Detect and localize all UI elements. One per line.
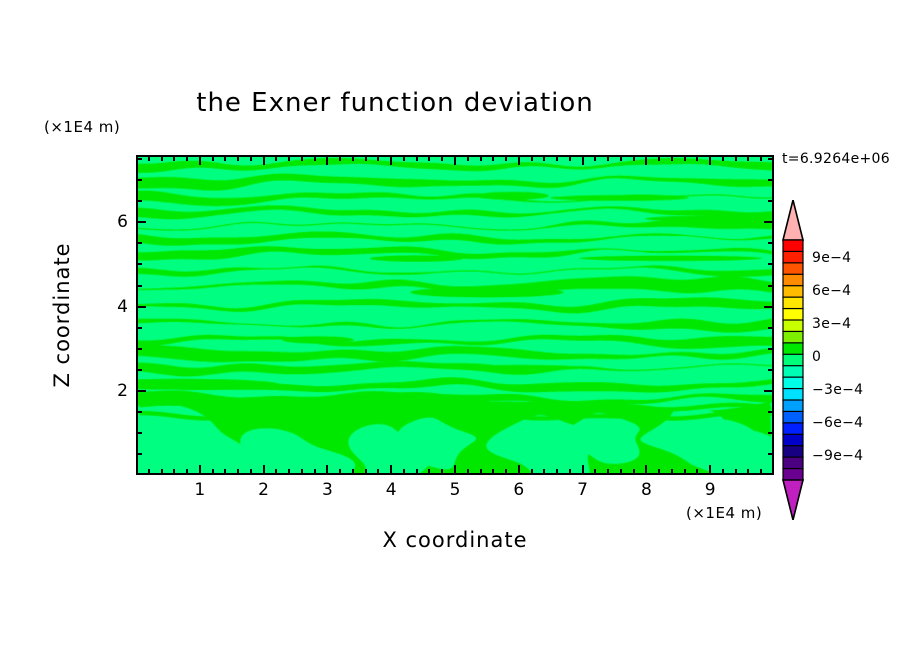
x-tick-minor-top	[428, 155, 430, 161]
colorbar-band	[783, 286, 803, 298]
x-tick-minor-top	[760, 155, 762, 161]
x-tick-minor	[403, 469, 405, 475]
contour-field-canvas	[138, 157, 772, 473]
x-tick-minor-top	[416, 155, 418, 161]
x-tick-major	[518, 465, 520, 475]
x-tick-minor	[186, 469, 188, 475]
x-tick-minor-top	[696, 155, 698, 161]
colorbar-band	[783, 309, 803, 321]
y-axis-title: Z coordinate	[50, 242, 74, 387]
x-tick-minor-top	[288, 155, 290, 161]
x-axis-title: X coordinate	[136, 528, 774, 552]
x-tick-major	[263, 465, 265, 475]
x-tick-minor	[633, 469, 635, 475]
x-tick-major	[709, 465, 711, 475]
x-tick-minor-top	[556, 155, 558, 161]
y-tick-minor	[136, 179, 142, 181]
x-tick-minor	[148, 469, 150, 475]
y-tick-minor	[136, 263, 142, 265]
y-tick-minor	[136, 200, 142, 202]
x-tick-minor-top	[735, 155, 737, 161]
x-tick-minor	[556, 469, 558, 475]
x-tick-minor	[760, 469, 762, 475]
contour-plot-area	[136, 155, 774, 475]
y-tick-minor-right	[768, 432, 774, 434]
x-tick-minor	[288, 469, 290, 475]
timestamp-annotation: t=6.9264e+06	[782, 151, 890, 167]
x-tick-minor-top	[607, 155, 609, 161]
colorbar-band	[783, 320, 803, 332]
y-axis-unit-label: (×1E4 m)	[44, 118, 120, 136]
y-tick-minor-right	[768, 158, 774, 160]
x-tick-major-top	[390, 155, 392, 165]
y-tick-minor	[136, 242, 142, 244]
y-tick-minor-right	[768, 411, 774, 413]
y-tick-major-right	[764, 221, 774, 223]
y-tick-minor	[136, 432, 142, 434]
x-tick-minor	[173, 469, 175, 475]
y-tick-minor	[136, 327, 142, 329]
colorbar-band	[783, 251, 803, 263]
x-tick-minor	[607, 469, 609, 475]
y-tick-major-right	[764, 390, 774, 392]
y-tick-minor	[136, 453, 142, 455]
colorbar-tick-label: −9e−4	[812, 448, 863, 464]
y-tick-minor-right	[768, 179, 774, 181]
x-tick-minor	[275, 469, 277, 475]
colorbar-band	[783, 366, 803, 378]
colorbar-band	[783, 240, 803, 252]
x-tick-minor-top	[620, 155, 622, 161]
x-tick-minor-top	[173, 155, 175, 161]
x-tick-minor	[658, 469, 660, 475]
y-tick-label: 6	[117, 212, 128, 232]
x-tick-major	[326, 465, 328, 475]
x-tick-minor	[735, 469, 737, 475]
x-tick-minor-top	[250, 155, 252, 161]
x-tick-minor	[543, 469, 545, 475]
x-tick-major	[390, 465, 392, 475]
y-tick-major	[136, 221, 146, 223]
x-tick-minor-top	[403, 155, 405, 161]
colorbar-band	[783, 469, 803, 481]
x-tick-major	[199, 465, 201, 475]
x-tick-minor	[250, 469, 252, 475]
y-tick-minor	[136, 285, 142, 287]
y-tick-minor-right	[768, 348, 774, 350]
colorbar-tick-label: 6e−4	[812, 283, 851, 299]
colorbar-band	[783, 457, 803, 469]
x-tick-major-top	[518, 155, 520, 165]
page-title: the Exner function deviation	[0, 88, 790, 118]
x-tick-minor-top	[722, 155, 724, 161]
colorbar-band	[783, 354, 803, 366]
y-tick-label: 2	[117, 381, 128, 401]
colorbar-band	[783, 400, 803, 412]
x-tick-major-top	[582, 155, 584, 165]
x-tick-minor-top	[339, 155, 341, 161]
x-tick-label: 4	[386, 480, 397, 500]
x-tick-minor	[224, 469, 226, 475]
x-tick-label: 2	[258, 480, 269, 500]
x-tick-minor	[492, 469, 494, 475]
y-tick-major	[136, 390, 146, 392]
x-tick-minor	[212, 469, 214, 475]
x-tick-minor-top	[531, 155, 533, 161]
x-tick-minor	[747, 469, 749, 475]
x-tick-minor	[428, 469, 430, 475]
y-tick-major	[136, 306, 146, 308]
x-tick-minor	[377, 469, 379, 475]
x-tick-minor	[569, 469, 571, 475]
x-tick-minor-top	[161, 155, 163, 161]
y-tick-minor	[136, 158, 142, 160]
colorbar-band	[783, 423, 803, 435]
colorbar-under-arrow	[783, 480, 803, 520]
x-tick-major-top	[645, 155, 647, 165]
x-tick-minor	[339, 469, 341, 475]
x-tick-minor	[594, 469, 596, 475]
x-tick-major	[582, 465, 584, 475]
x-tick-minor	[671, 469, 673, 475]
x-tick-minor-top	[365, 155, 367, 161]
x-tick-minor	[352, 469, 354, 475]
x-tick-minor-top	[212, 155, 214, 161]
colorbar-tick-label: 9e−4	[812, 250, 851, 266]
x-tick-minor	[620, 469, 622, 475]
colorbar-band	[783, 446, 803, 458]
x-tick-minor	[722, 469, 724, 475]
x-tick-minor-top	[148, 155, 150, 161]
x-tick-minor-top	[492, 155, 494, 161]
colorbar-tick-label: −3e−4	[812, 382, 863, 398]
x-tick-minor-top	[594, 155, 596, 161]
x-tick-minor-top	[186, 155, 188, 161]
y-tick-minor-right	[768, 327, 774, 329]
y-tick-minor-right	[768, 369, 774, 371]
x-tick-minor	[237, 469, 239, 475]
colorbar[interactable]	[781, 200, 805, 520]
x-tick-minor-top	[684, 155, 686, 161]
colorbar-band	[783, 263, 803, 275]
x-tick-minor-top	[275, 155, 277, 161]
x-tick-minor-top	[441, 155, 443, 161]
y-tick-minor	[136, 348, 142, 350]
x-tick-label: 3	[322, 480, 333, 500]
x-tick-minor-top	[352, 155, 354, 161]
x-tick-minor-top	[543, 155, 545, 161]
x-tick-minor	[314, 469, 316, 475]
colorbar-tick-label: 0	[812, 349, 821, 365]
x-tick-minor-top	[658, 155, 660, 161]
x-tick-minor	[696, 469, 698, 475]
x-tick-minor-top	[480, 155, 482, 161]
x-tick-major	[645, 465, 647, 475]
x-tick-minor-top	[301, 155, 303, 161]
x-tick-major	[454, 465, 456, 475]
x-tick-label: 7	[577, 480, 588, 500]
x-tick-minor	[161, 469, 163, 475]
x-tick-minor-top	[633, 155, 635, 161]
colorbar-band	[783, 411, 803, 423]
x-tick-minor-top	[747, 155, 749, 161]
x-tick-major-top	[709, 155, 711, 165]
colorbar-svg	[781, 200, 805, 520]
colorbar-tick-label: 3e−4	[812, 316, 851, 332]
colorbar-band	[783, 297, 803, 309]
x-tick-minor-top	[505, 155, 507, 161]
y-tick-label: 4	[117, 297, 128, 317]
x-tick-minor	[684, 469, 686, 475]
y-tick-minor-right	[768, 242, 774, 244]
colorbar-tick-label: −6e−4	[812, 415, 863, 431]
x-tick-label: 9	[705, 480, 716, 500]
x-tick-minor-top	[671, 155, 673, 161]
colorbar-band	[783, 331, 803, 343]
x-tick-major-top	[326, 155, 328, 165]
x-tick-minor-top	[569, 155, 571, 161]
colorbar-band	[783, 274, 803, 286]
x-tick-minor	[480, 469, 482, 475]
x-tick-major-top	[263, 155, 265, 165]
x-tick-minor-top	[377, 155, 379, 161]
y-tick-minor	[136, 411, 142, 413]
x-tick-label: 8	[641, 480, 652, 500]
x-tick-minor	[365, 469, 367, 475]
x-tick-major-top	[199, 155, 201, 165]
x-axis-unit-label: (×1E4 m)	[686, 504, 762, 522]
x-tick-label: 5	[450, 480, 461, 500]
y-tick-minor-right	[768, 263, 774, 265]
x-tick-minor	[505, 469, 507, 475]
x-tick-label: 1	[194, 480, 205, 500]
x-tick-minor	[301, 469, 303, 475]
colorbar-band	[783, 377, 803, 389]
x-tick-minor	[531, 469, 533, 475]
colorbar-band	[783, 343, 803, 355]
colorbar-over-arrow	[783, 200, 803, 240]
x-tick-minor-top	[237, 155, 239, 161]
x-tick-minor	[416, 469, 418, 475]
colorbar-band	[783, 434, 803, 446]
x-tick-major-top	[454, 155, 456, 165]
y-tick-minor-right	[768, 200, 774, 202]
x-tick-minor-top	[224, 155, 226, 161]
y-tick-minor-right	[768, 453, 774, 455]
y-tick-minor-right	[768, 285, 774, 287]
x-tick-minor	[441, 469, 443, 475]
x-tick-minor	[467, 469, 469, 475]
colorbar-band	[783, 389, 803, 401]
y-tick-minor	[136, 369, 142, 371]
x-tick-minor-top	[314, 155, 316, 161]
x-tick-minor-top	[467, 155, 469, 161]
x-tick-label: 6	[513, 480, 524, 500]
y-tick-major-right	[764, 306, 774, 308]
